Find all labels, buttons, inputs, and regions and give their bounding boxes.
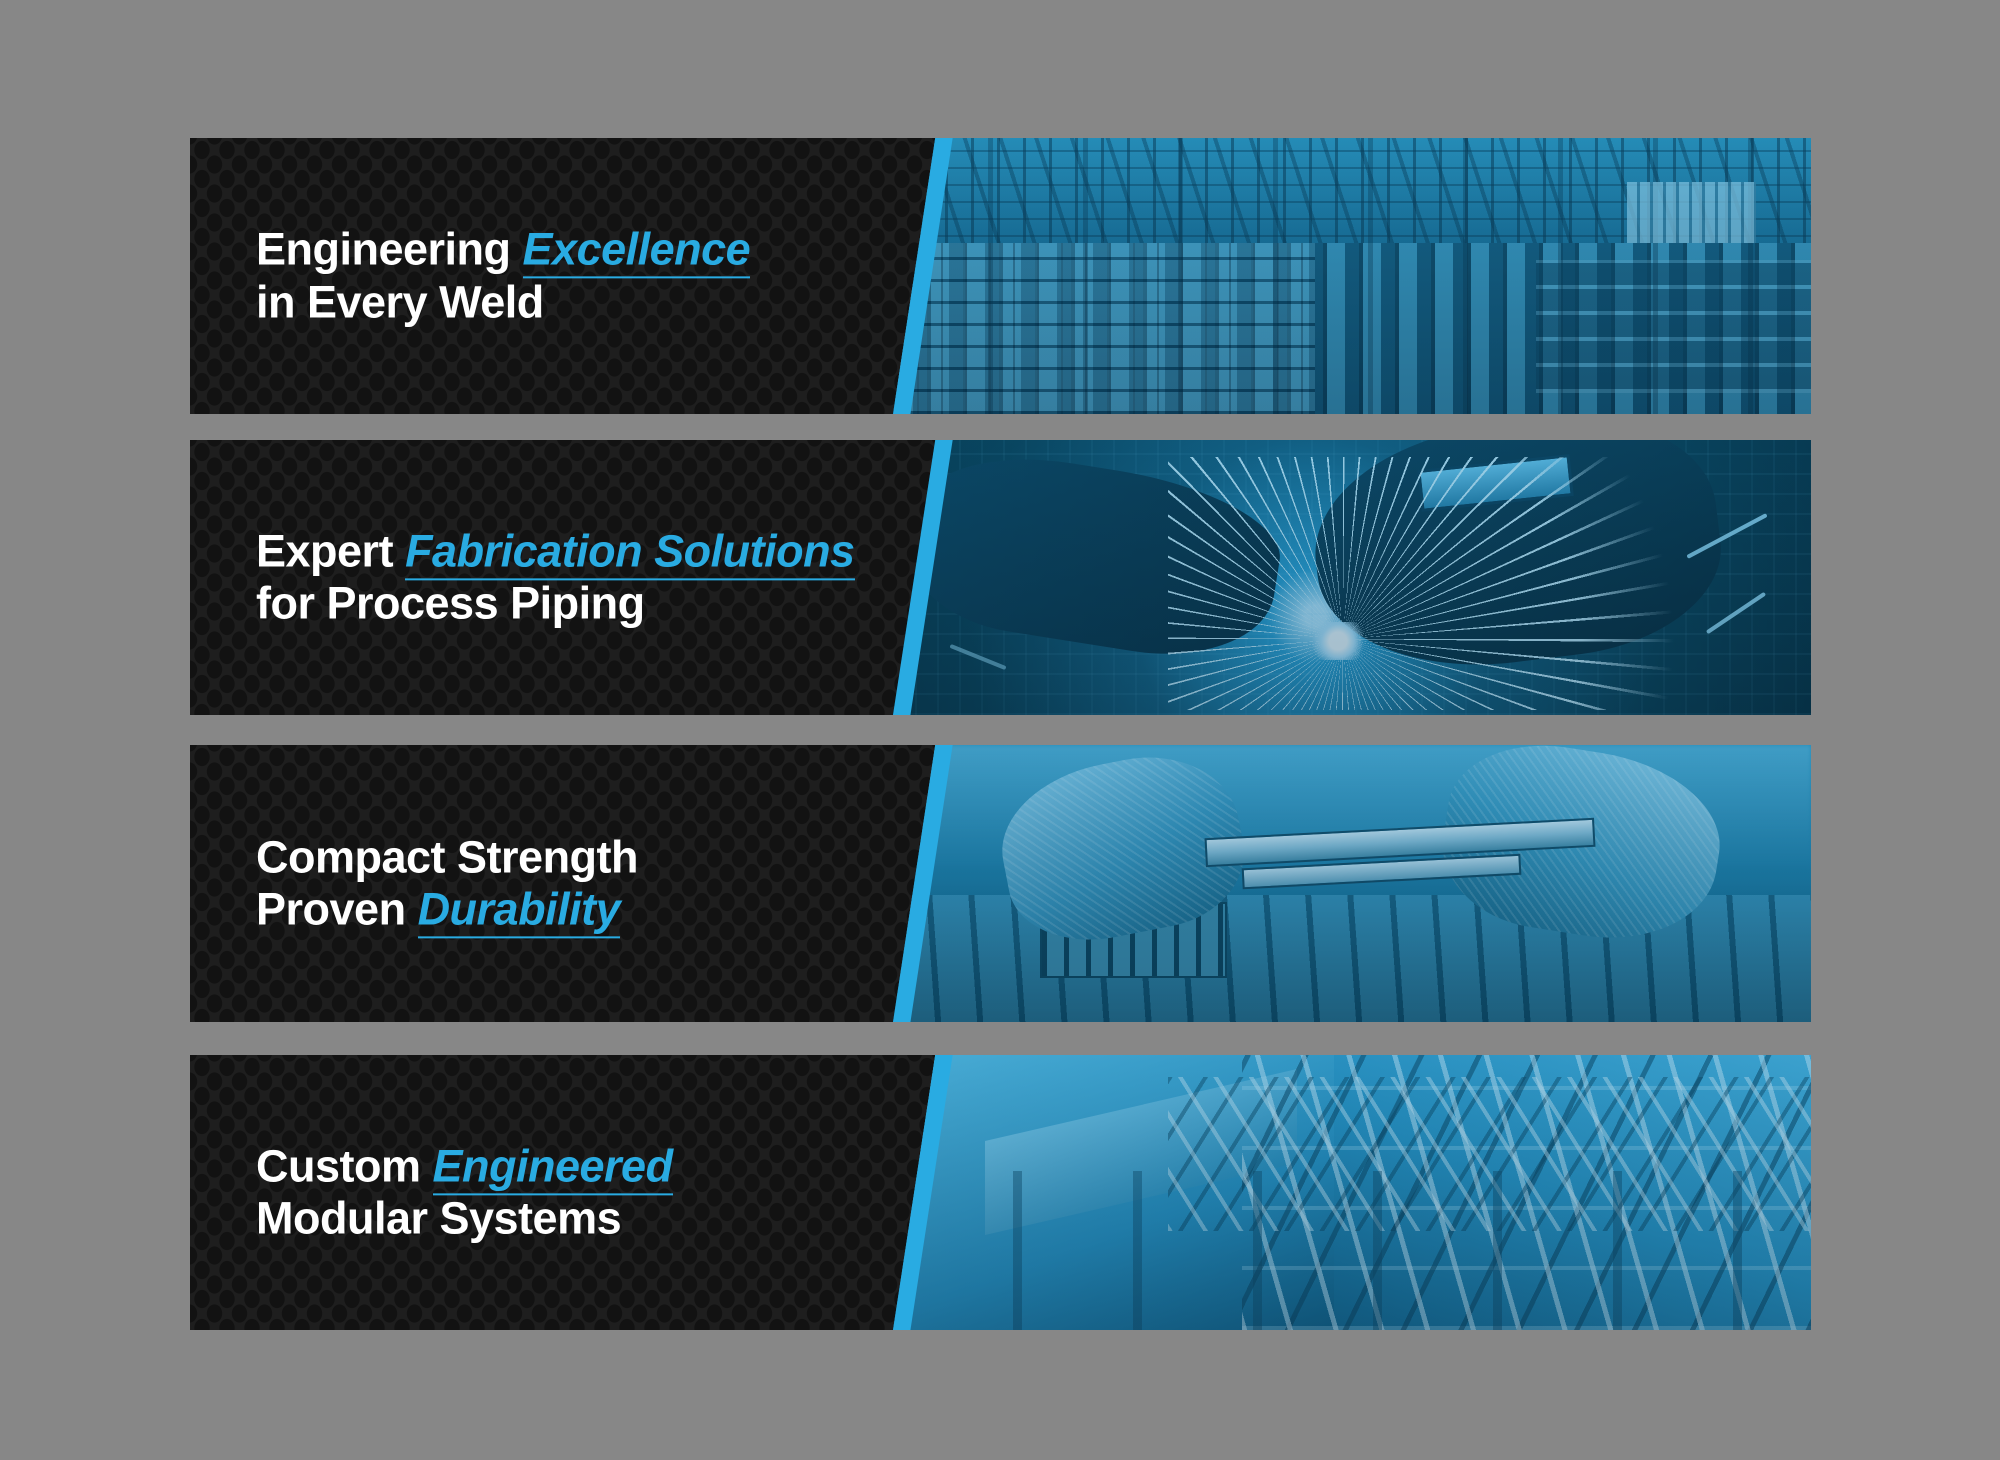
headline-line1-accent: Engineered xyxy=(433,1140,673,1195)
headline-line2-plain: Proven xyxy=(256,884,418,935)
banner-headline: Custom Engineered Modular Systems xyxy=(256,1140,673,1245)
headline-line2-plain: Modular Systems xyxy=(256,1193,621,1244)
headline-line1-plain: Custom xyxy=(256,1140,433,1191)
banner-photo-pipe-warehouse xyxy=(893,138,1811,414)
banner-engineering-excellence[interactable]: Engineering Excellence in Every Weld xyxy=(190,138,1811,414)
banner-modular-systems[interactable]: Custom Engineered Modular Systems xyxy=(190,1055,1811,1330)
banner-compact-strength[interactable]: Compact Strength Proven Durability xyxy=(190,745,1811,1022)
headline-line1-plain: Engineering xyxy=(256,223,523,274)
headline-line2-accent: Durability xyxy=(418,884,621,939)
headline-line1-plain: Expert xyxy=(256,525,405,576)
banner-photo-welding-sparks xyxy=(893,440,1811,715)
headline-line2-plain: for Process Piping xyxy=(256,578,645,629)
banner-headline: Engineering Excellence in Every Weld xyxy=(256,223,750,328)
banner-fabrication-solutions[interactable]: Expert Fabrication Solutions for Process… xyxy=(190,440,1811,715)
banner-headline: Compact Strength Proven Durability xyxy=(256,831,638,936)
headline-line2-plain: in Every Weld xyxy=(256,276,544,327)
banner-photo-steel-framework xyxy=(893,1055,1811,1330)
banner-photo-calipers-measuring xyxy=(893,745,1811,1022)
banner-headline: Expert Fabrication Solutions for Process… xyxy=(256,525,855,630)
headline-line1-accent: Excellence xyxy=(523,223,751,278)
banner-collection: Engineering Excellence in Every Weld xyxy=(0,0,2000,1460)
headline-line1-plain: Compact Strength xyxy=(256,831,638,882)
headline-line1-accent: Fabrication Solutions xyxy=(405,525,855,580)
